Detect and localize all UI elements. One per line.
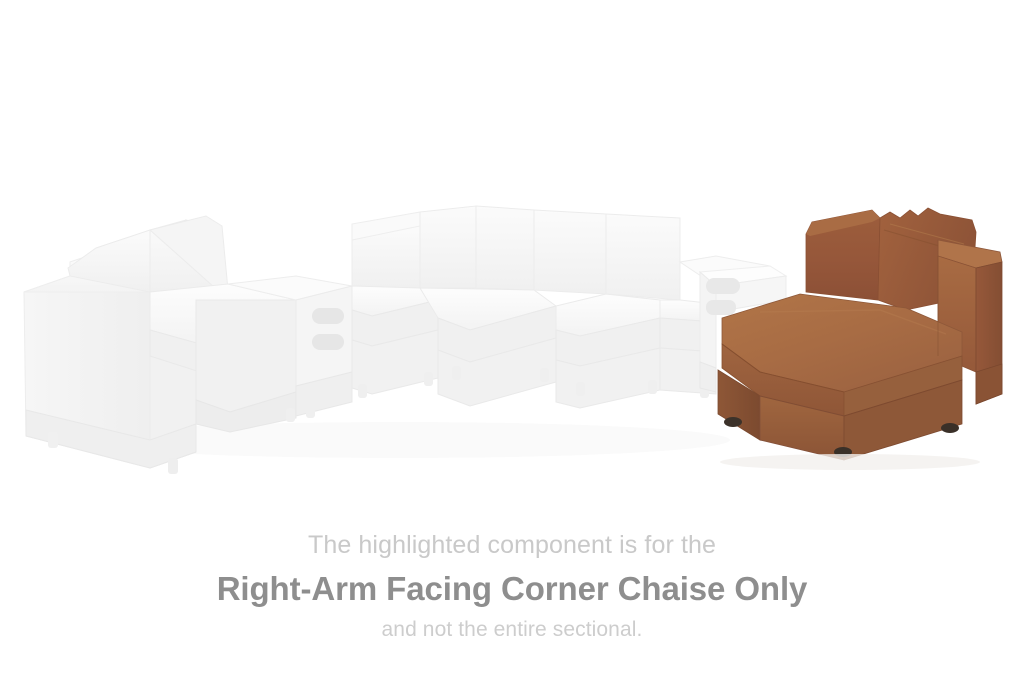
caption-line-3: and not the entire sectional. — [0, 615, 1024, 644]
chaise-foot — [941, 423, 959, 433]
faded-foot — [540, 368, 549, 382]
faded-sectional-group — [24, 206, 786, 474]
sectional-svg — [0, 0, 1024, 500]
caption-line-2-component-name: Right-Arm Facing Corner Chaise Only — [0, 568, 1024, 610]
sectional-product-illustration — [0, 0, 1024, 500]
product-image-page: The highlighted component is for the Rig… — [0, 0, 1024, 683]
cupholder-icon — [706, 278, 740, 294]
faded-foot — [576, 382, 585, 396]
cupholder-icon — [312, 334, 344, 350]
caption-block: The highlighted component is for the Rig… — [0, 528, 1024, 644]
chaise-foot — [724, 417, 742, 427]
chaise-floor-shadow — [720, 454, 980, 470]
faded-foot — [648, 380, 657, 394]
faded-foot — [358, 384, 367, 398]
cupholder-icon — [706, 300, 736, 315]
faded-foot — [168, 458, 178, 474]
faded-foot — [48, 432, 58, 448]
cupholder-icon — [312, 308, 344, 324]
highlighted-raf-corner-chaise — [718, 208, 1002, 470]
faded-foot — [452, 366, 461, 380]
caption-line-1: The highlighted component is for the — [0, 528, 1024, 562]
faded-foot — [424, 372, 433, 386]
faded-foot — [286, 408, 295, 422]
faded-foot — [306, 404, 315, 418]
